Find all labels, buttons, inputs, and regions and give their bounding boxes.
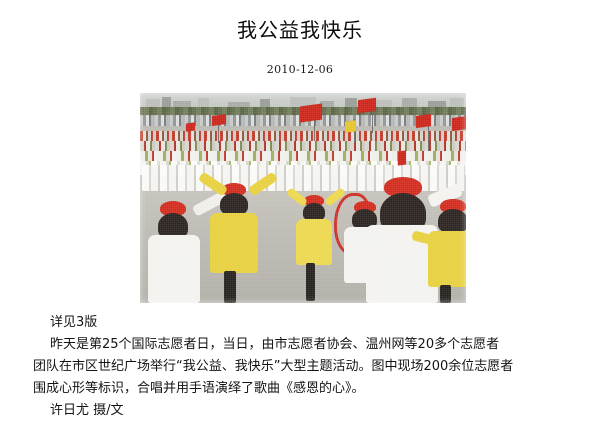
- photo-canvas: [140, 93, 466, 303]
- reference-note: 详见3版: [33, 312, 573, 334]
- yellow-flag: [345, 120, 356, 133]
- red-flag: [452, 116, 466, 131]
- article-photo: [140, 93, 466, 303]
- red-flag: [358, 98, 376, 114]
- paragraph-line-1: 昨天是第25个国际志愿者日，当日，由市志愿者协会、温州网等20多个志愿者: [33, 334, 573, 356]
- article-body: 详见3版 昨天是第25个国际志愿者日，当日，由市志愿者协会、温州网等20多个志愿…: [33, 312, 573, 422]
- paragraph-line-2: 团队在市区世纪广场举行“我公益、我快乐”大型主题活动。图中现场200余位志愿者: [33, 356, 573, 378]
- byline: 许日尤 摄/文: [33, 400, 573, 422]
- red-flag: [186, 122, 195, 131]
- red-flag: [212, 114, 226, 126]
- red-flag: [398, 150, 406, 165]
- red-flag: [300, 103, 322, 122]
- paragraph-line-3: 围成心形等标识，合唱并用手语演绎了歌曲《感恩的心》。: [33, 378, 573, 400]
- article-date: 2010-12-06: [0, 63, 600, 76]
- page-title: 我公益我快乐: [0, 0, 600, 43]
- red-flag: [416, 114, 431, 128]
